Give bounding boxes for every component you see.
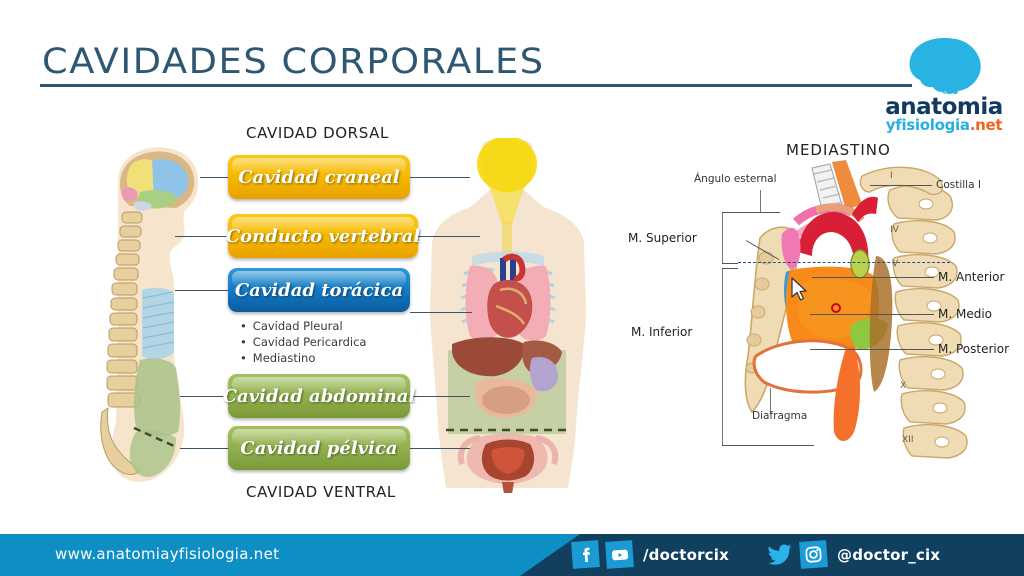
leader-line-pelvica-2	[410, 448, 470, 449]
bracket-inferior-vertical	[722, 268, 723, 446]
footer-website-url[interactable]: www.anatomiayfisiologia.net	[55, 545, 279, 563]
youtube-icon[interactable]	[605, 540, 634, 569]
label-m-inferior: M. Inferior	[631, 325, 692, 339]
vertebra-mark-I: I	[890, 171, 893, 181]
label-diafragma: Diafragma	[752, 410, 807, 422]
cavity-label-craneal[interactable]: Cavidad craneal	[228, 155, 410, 199]
angulo-leader-vertical	[760, 190, 761, 212]
leader-line-toracica	[175, 290, 228, 291]
vertebra-mark-V: V	[892, 259, 899, 269]
logo-wordmark-secondary: yfisiologia.net	[878, 116, 1010, 134]
mediastino-title: MEDIASTINO	[786, 141, 891, 159]
cavity-label-vertebral[interactable]: Conducto vertebral	[228, 214, 418, 258]
mediastino-divider-dashed	[738, 262, 950, 263]
page-title: CAVIDADES CORPORALES	[42, 42, 545, 82]
list-item: Cavidad Pericardica	[240, 334, 366, 350]
vertebra-mark-XII: XII	[902, 435, 913, 445]
leader-line-abdominal-2	[410, 396, 470, 397]
anterior-body-figure	[420, 138, 595, 493]
title-underline	[40, 84, 912, 87]
leader-line-vertebral	[175, 236, 228, 237]
ventral-section-heading: CAVIDAD VENTRAL	[246, 483, 396, 501]
cavity-label-pelvica[interactable]: Cavidad pélvica	[228, 426, 410, 470]
leader-line-pelvica	[180, 448, 228, 449]
label-m-medio: M. Medio	[938, 307, 992, 321]
label-angulo-esternal: Ángulo esternal	[694, 173, 776, 185]
label-m-posterior: M. Posterior	[938, 342, 1009, 356]
mouse-pointer-icon	[790, 277, 808, 303]
logo-word-fisiologia: yfisiologia	[886, 116, 970, 134]
list-item: Mediastino	[240, 350, 366, 366]
twitter-icon[interactable]	[765, 540, 794, 569]
anterior-leader	[812, 277, 934, 278]
facebook-icon[interactable]	[571, 540, 600, 569]
bracket-superior-bottom	[722, 263, 738, 264]
bracket-inferior-bottom	[722, 445, 814, 446]
dorsal-section-heading: CAVIDAD DORSAL	[246, 124, 389, 142]
leader-line-craneal	[200, 177, 228, 178]
vertebra-mark-IV: IV	[890, 225, 900, 235]
bracket-inferior-top	[722, 268, 738, 269]
footer-bar: www.anatomiayfisiologia.net /doctorcix @…	[0, 534, 1024, 576]
vertebra-mark-X: X	[900, 381, 906, 391]
social-group-doctor-cix: @doctor_cix	[766, 541, 940, 568]
brain-icon	[900, 36, 988, 96]
angulo-leader-horizontal	[738, 212, 780, 213]
social-group-doctorcix: /doctorcix	[572, 541, 729, 568]
leader-line-vertebral-2	[418, 236, 480, 237]
label-m-superior: M. Superior	[628, 231, 697, 245]
sagittal-body-figure	[78, 140, 238, 490]
leader-line-craneal-2	[410, 177, 470, 178]
logo-tld: .net	[970, 116, 1003, 134]
instagram-icon[interactable]	[799, 540, 828, 569]
footer-handle-doctorcix[interactable]: /doctorcix	[643, 546, 729, 564]
cavity-label-toracica[interactable]: Cavidad torácica	[228, 268, 410, 312]
thoracic-subdivision-list: Cavidad Pleural Cavidad Pericardica Medi…	[240, 318, 366, 366]
medio-leader	[810, 314, 934, 315]
list-item: Cavidad Pleural	[240, 318, 366, 334]
posterior-leader	[810, 349, 934, 350]
label-costilla-i: Costilla I	[936, 179, 981, 191]
footer-handle-doctor-cix[interactable]: @doctor_cix	[837, 546, 940, 564]
bracket-superior-top	[722, 212, 738, 213]
leader-line-toracica-2	[410, 312, 472, 313]
cavity-label-abdominal[interactable]: Cavidad abdominal	[228, 374, 410, 418]
costilla-leader	[870, 185, 932, 186]
slide-canvas: CAVIDADES CORPORALES anatomia yfisiologi…	[0, 0, 1024, 576]
brand-logo: anatomia yfisiologia.net	[878, 36, 1010, 140]
leader-line-abdominal	[180, 396, 228, 397]
bracket-superior-vertical	[722, 212, 723, 264]
label-m-anterior: M. Anterior	[938, 270, 1004, 284]
